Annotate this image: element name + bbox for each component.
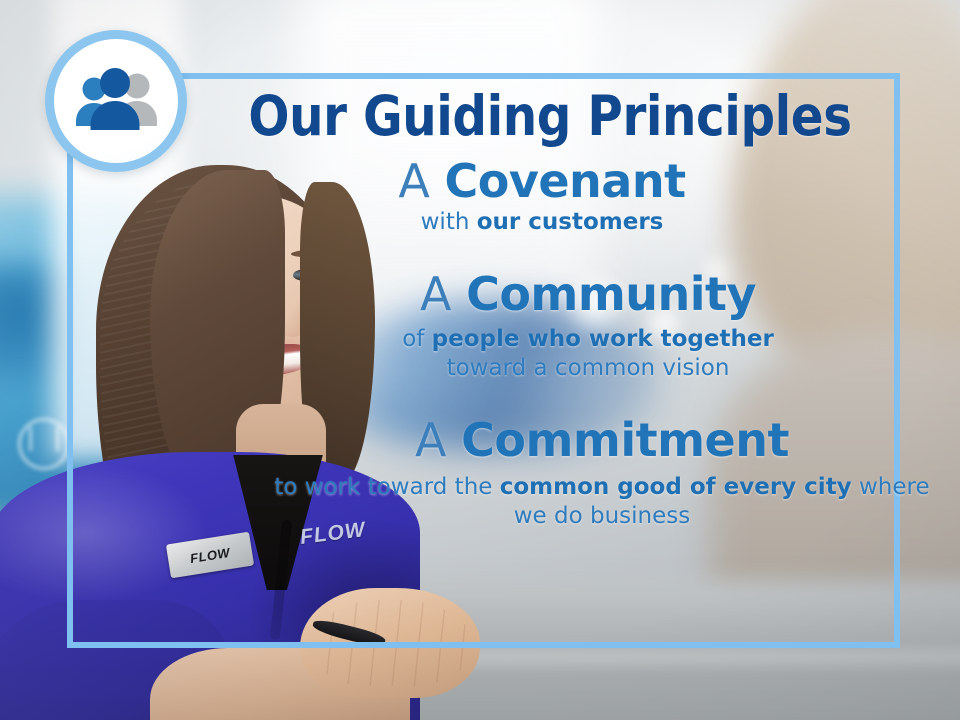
bokeh-highlight — [640, 300, 688, 348]
subject-fingers — [312, 600, 472, 686]
nametag-brand-text: FLOW — [189, 544, 231, 565]
banner-graphic: FLOW FLOW Our Guiding Principles — [0, 0, 960, 720]
people-badge — [45, 30, 187, 172]
group-people-icon — [68, 68, 164, 134]
bokeh-highlight — [560, 268, 630, 338]
